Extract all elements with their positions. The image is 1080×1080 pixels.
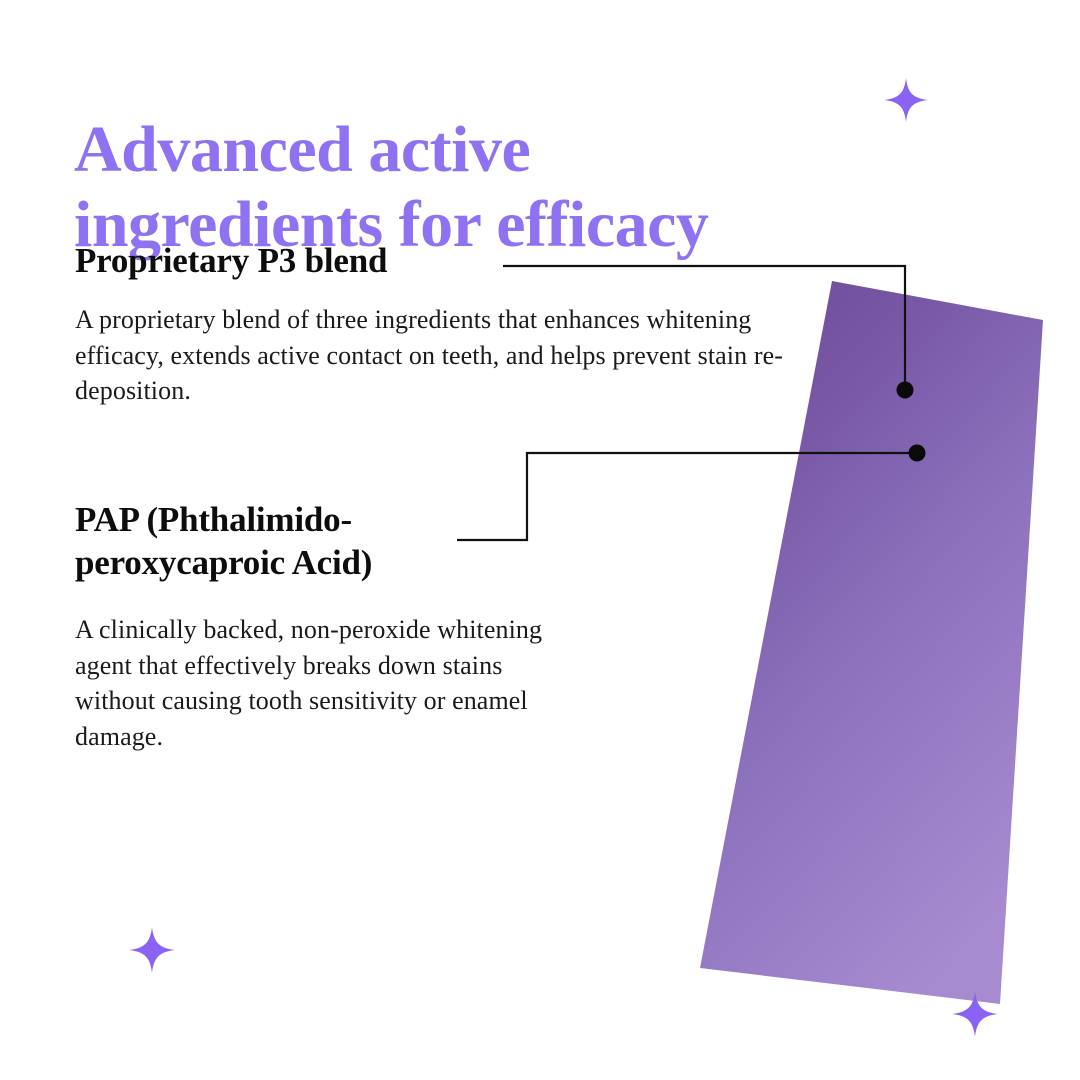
section-title-pap: PAP (Phthalimido-peroxycaproic Acid): [75, 498, 495, 585]
sparkle-top-right-icon: [884, 78, 928, 127]
callout-dot-p3: [897, 382, 914, 399]
section-body-p3: A proprietary blend of three ingredients…: [75, 302, 820, 409]
section-title-p3: Proprietary P3 blend: [75, 241, 387, 281]
callout-dot-pap: [909, 445, 926, 462]
sparkle-bottom-left-icon: [129, 927, 175, 978]
callout-line-pap: [457, 453, 917, 540]
page-title-line-1: Advanced active: [74, 113, 530, 186]
section-body-pap: A clinically backed, non-peroxide whiten…: [75, 612, 575, 754]
slide-canvas: Advanced active ingredients for efficacy…: [0, 0, 1080, 1080]
sparkle-bottom-right-icon: [952, 991, 998, 1042]
